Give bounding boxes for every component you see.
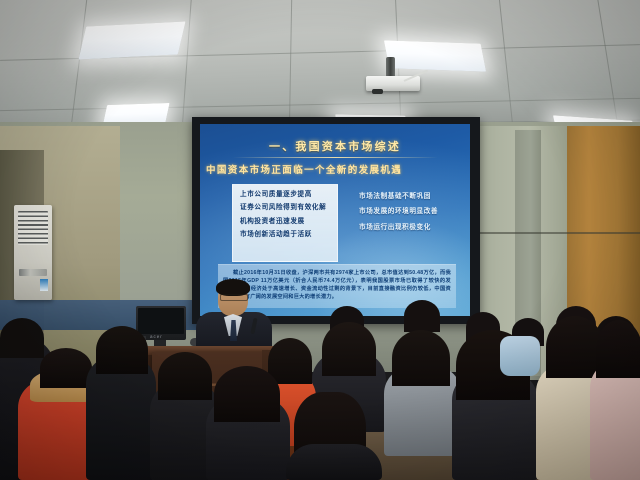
ceiling	[0, 0, 640, 132]
wall-trim-line	[460, 232, 640, 234]
audience-orange-fur-coat-head	[40, 348, 92, 388]
slide-title-underline	[233, 157, 438, 158]
audience-dark-jacket	[86, 356, 156, 480]
ceiling-grid-line	[0, 98, 640, 111]
slide-bullet-right: 市场法制基础不断巩固	[352, 184, 452, 200]
air-vent-icon	[18, 211, 48, 245]
monitor-screen	[138, 308, 184, 334]
audience-grey-hoodie-head	[392, 330, 450, 386]
slide-bullet-left: 机构投资者迅速发展	[233, 211, 337, 224]
slide-left-bullet-box: 上市公司质量逐步提高 证券公司风险得到有效化解 机构投资者迅速发展 市场创新活动…	[232, 184, 338, 262]
ceiling-grid-line	[69, 0, 88, 132]
floor-air-conditioner[interactable]	[14, 205, 52, 300]
slide-bullet-left: 上市公司质量逐步提高	[233, 185, 337, 198]
ceiling-grid-line	[289, 0, 293, 132]
audience-ponytail-left-head	[158, 352, 212, 400]
audience-blue-scarf	[500, 336, 540, 376]
ceiling-light-panel	[384, 40, 486, 71]
ac-control-panel[interactable]	[19, 269, 47, 276]
audience-black-coat-left-head	[0, 318, 44, 358]
audience-dark-jacket-head	[96, 326, 148, 374]
ceiling-grid-line	[181, 0, 192, 132]
audience-pink-coat	[590, 360, 640, 480]
projector-mount	[386, 57, 395, 78]
slide-right-bullet-box: 市场法制基础不断巩固 市场发展的环境明显改善 市场运行出现积极变化	[352, 184, 452, 244]
ceiling-grid-line	[498, 0, 515, 132]
slide-bullet-left: 市场创新活动趋于活跃	[233, 225, 337, 238]
slide-bullet-left: 证券公司风险得到有效化解	[233, 198, 337, 211]
audience-orange-coat-right-head	[268, 338, 312, 384]
glasses-icon	[220, 294, 248, 301]
monitor-brand-label: acer	[150, 334, 163, 339]
ac-label-sticker	[40, 279, 48, 291]
slide-bullet-right: 市场发展的环境明显改善	[352, 200, 452, 216]
desktop-monitor[interactable]: acer	[136, 306, 186, 340]
projector-lens-icon	[372, 89, 383, 94]
ceiling-light-panel	[78, 21, 185, 59]
audience-long-hair-right	[322, 322, 376, 376]
slide-subtitle: 中国资本市场正面临一个全新的发展机遇	[206, 162, 446, 176]
audience-back-2	[404, 300, 440, 332]
slide-title: 一、我国资本市场综述	[200, 138, 470, 154]
audience-foreground-body	[286, 444, 382, 480]
audience-front-center-head	[214, 366, 280, 422]
lecture-hall-scene: 一、我国资本市场综述 中国资本市场正面临一个全新的发展机遇 上市公司质量逐步提高…	[0, 0, 640, 480]
audience-pink-coat-head	[596, 320, 640, 378]
slide-bullet-right: 市场运行出现积极变化	[352, 215, 452, 231]
presenter-at-podium	[196, 282, 272, 354]
ceiling-grid-line	[596, 0, 620, 132]
